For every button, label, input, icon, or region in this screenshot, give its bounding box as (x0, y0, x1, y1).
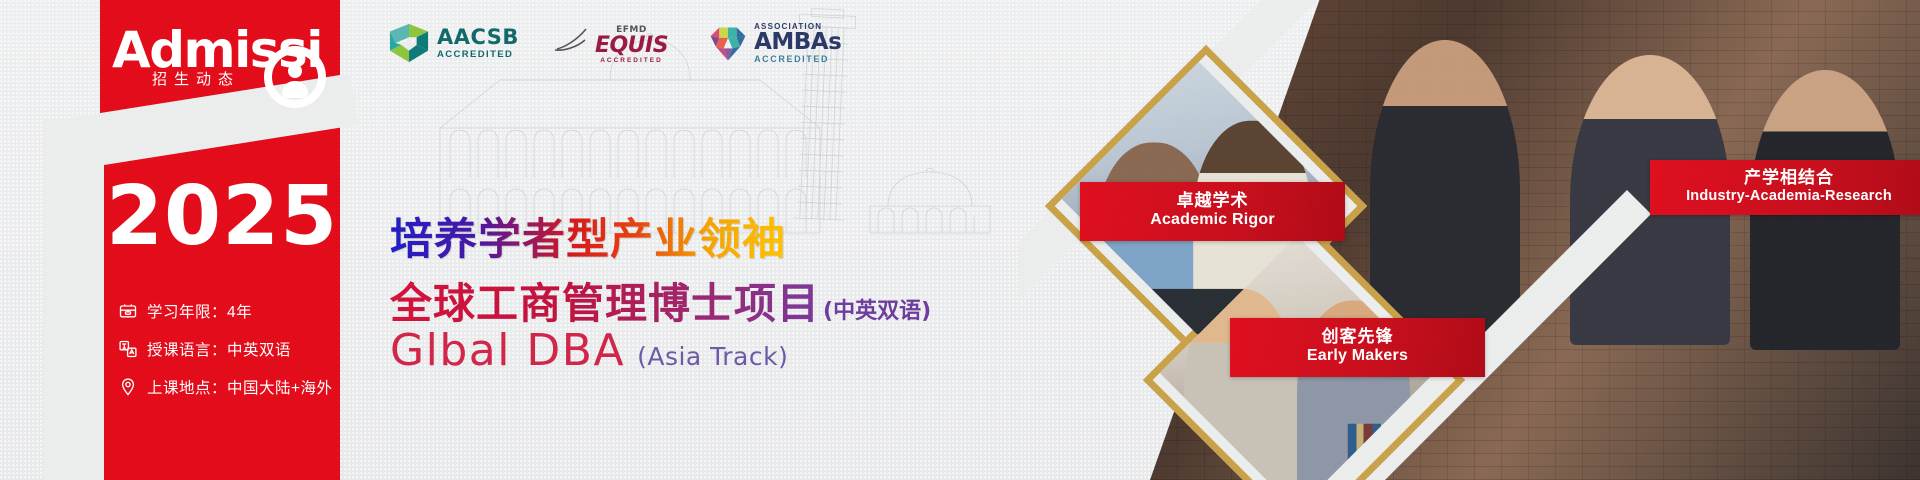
info-label-language: 授课语言：中英双语 (147, 338, 291, 360)
calendar-icon (118, 301, 138, 321)
aacsb-subtitle: ACCREDITED (437, 50, 519, 60)
efmd-swoosh-icon (553, 27, 599, 53)
info-row-duration: 学习年限：4年 (118, 292, 333, 330)
accreditation-logos: AACSB ACCREDITED EFMD EQUIS ACCREDITED (388, 22, 841, 64)
admission-chinese-label: 招生动态 (152, 68, 240, 89)
amba-title: AMBAs (754, 31, 841, 54)
language-icon (118, 339, 138, 359)
left-red-panel: Admissi 招生动态 2025 学习年限：4年 (0, 0, 340, 480)
feature-en-industry-academia: Industry-Academia-Research (1650, 188, 1920, 205)
person-silhouette-1 (1370, 40, 1520, 340)
program-name-cn: 全球工商管理博士项目 (390, 270, 820, 331)
feature-en-early-makers: Early Makers (1230, 347, 1485, 366)
program-track-label: (Asia Track) (637, 342, 788, 371)
amba-diamond-icon (708, 24, 748, 64)
location-pin-icon (118, 377, 138, 397)
aacsb-title: AACSB (437, 27, 519, 48)
headline-program-name: 全球工商管理博士项目 (中英双语) (390, 270, 931, 331)
feature-cn-academic-rigor: 卓越学术 (1080, 191, 1345, 211)
info-row-language: 授课语言：中英双语 (118, 330, 333, 368)
equis-title: EQUIS (595, 35, 668, 57)
amba-logo: ASSOCIATION AMBAs ACCREDITED (708, 23, 841, 64)
white-left-gap (44, 118, 104, 480)
feature-cn-early-makers: 创客先锋 (1230, 327, 1485, 347)
aacsb-logo: AACSB ACCREDITED (388, 22, 519, 64)
program-name-en: Glbal DBA (390, 325, 625, 376)
info-row-location: 上课地点：中国大陆+海外 (118, 368, 333, 406)
feature-en-academic-rigor: Academic Rigor (1080, 211, 1345, 230)
equis-logo: EFMD EQUIS ACCREDITED (559, 25, 668, 64)
feature-cn-industry-academia: 产学相结合 (1650, 168, 1920, 188)
aacsb-mark-icon (388, 22, 430, 64)
feature-label-industry-academia: 产学相结合 Industry-Academia-Research (1650, 160, 1920, 215)
admission-banner: Admissi 招生动态 2025 学习年限：4年 (0, 0, 1920, 480)
program-name-bilingual-note: (中英双语) (823, 293, 931, 325)
year-label: 2025 (106, 176, 338, 258)
admission-wordmark: Admissi 招生动态 (112, 24, 344, 104)
info-label-location: 上课地点：中国大陆+海外 (147, 376, 333, 398)
info-label-duration: 学习年限：4年 (147, 300, 252, 322)
photo-collage: 卓越学术 Academic Rigor 产学相结合 Industry-Acade… (1020, 0, 1920, 480)
amba-subtitle: ACCREDITED (754, 55, 841, 64)
equis-subtitle: ACCREDITED (595, 57, 668, 64)
program-info-list: 学习年限：4年 授课语言：中英双语 上课地点：中国大陆+海外 (118, 292, 333, 406)
person-in-circle-icon (264, 46, 326, 108)
feature-label-academic-rigor: 卓越学术 Academic Rigor (1080, 182, 1345, 241)
headline-tagline: 培养学者型产业领袖 (390, 216, 786, 264)
headline-program-name-en: Glbal DBA (Asia Track) (390, 325, 788, 376)
feature-label-early-makers: 创客先锋 Early Makers (1230, 318, 1485, 377)
